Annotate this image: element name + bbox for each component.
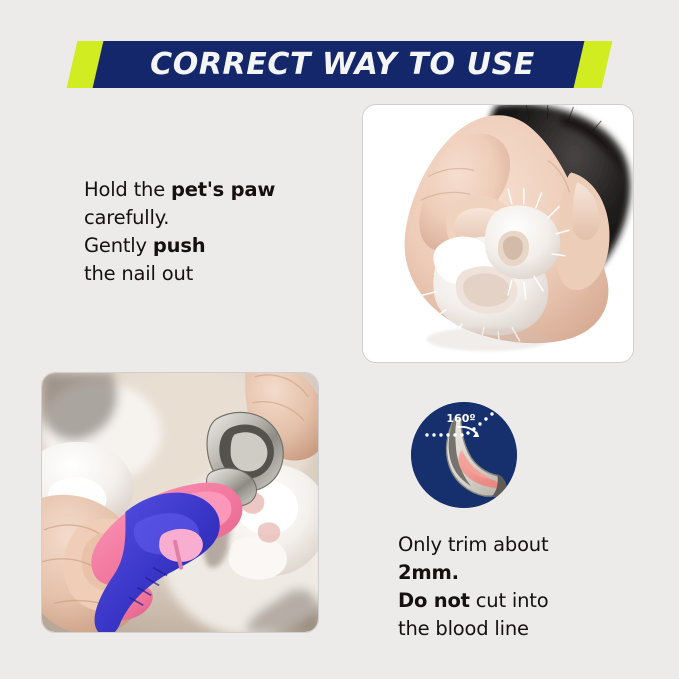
plain-text: carefully. — [84, 206, 169, 229]
instruction-trim-2mm: Only trim about2mm.Do not cut intothe bl… — [398, 531, 668, 643]
emphasis-text: push — [153, 234, 206, 257]
sr-step-2: Only trim about 2mm. Do not cut into the… — [0, 0, 1, 1]
plain-text: the nail out — [84, 262, 193, 285]
emphasis-text: pet's paw — [171, 178, 275, 201]
header-banner: CORRECT WAY TO USE — [72, 41, 607, 88]
poster-canvas: CORRECT WAY TO USE Hold the pet's pawcar… — [0, 0, 679, 679]
illustration-clipping-claw — [42, 373, 318, 632]
emphasis-text: Do not — [398, 589, 470, 612]
sr-photo-1-alt: A human hand gently holding a white cat … — [0, 0, 1, 1]
angle-label: 160º — [446, 412, 475, 425]
clipper-spring — [159, 529, 203, 562]
photo-paw-hold — [362, 104, 634, 363]
photo-paw-hold-inner — [363, 105, 633, 362]
photo-clipping — [41, 372, 319, 633]
illustration-hand-holding-paw — [363, 105, 633, 362]
plain-text: Only trim about — [398, 533, 548, 556]
plain-text: cut into — [470, 589, 549, 612]
instruction-hold-paw: Hold the pet's pawcarefully.Gently pusht… — [84, 176, 364, 288]
page-title: CORRECT WAY TO USE — [72, 41, 607, 88]
claw-angle-badge: 160º — [411, 402, 517, 508]
sr-photo-2-alt: A hand using pink and blue pet nail clip… — [0, 0, 1, 1]
sr-step-1: Hold the pet's paw carefully. Gently pus… — [0, 0, 1, 1]
plain-text: Hold the — [84, 178, 171, 201]
emphasis-text: 2mm. — [398, 561, 459, 584]
plain-text: Gently — [84, 234, 153, 257]
sr-badge-alt: Navy circle illustrating a cat claw with… — [0, 0, 1, 1]
plain-text: the blood line — [398, 617, 529, 640]
claw-angle-diagram: 160º — [411, 402, 517, 508]
photo-clipping-inner — [42, 373, 318, 632]
